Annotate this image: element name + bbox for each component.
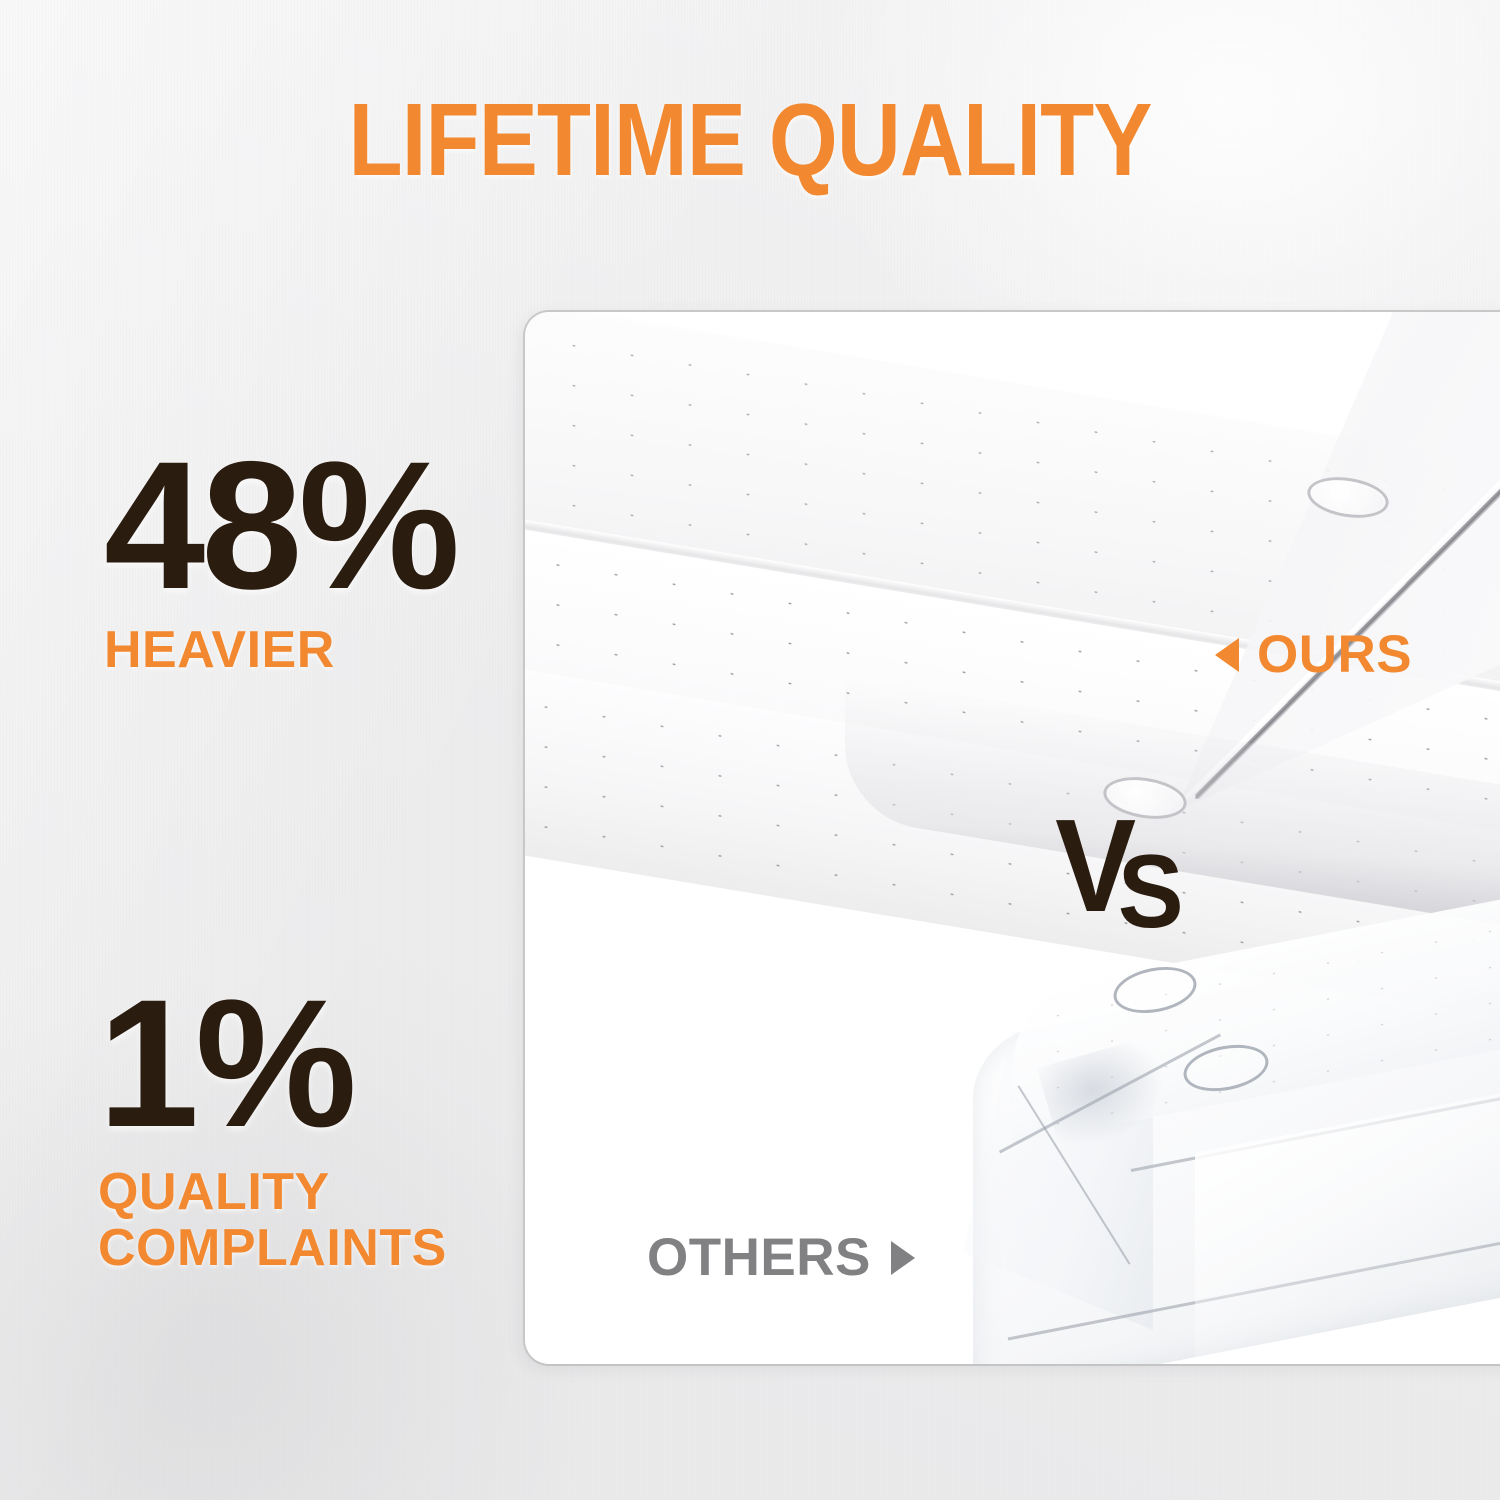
vs-badge: VS [1052,800,1199,932]
triangle-right-icon [891,1241,915,1275]
stat-complaints-label-line2: COMPLAINTS [98,1220,447,1276]
stat-heavier-number: 48% [104,447,456,604]
others-label: OTHERS [647,1227,915,1288]
stat-heavier-label: HEAVIER [104,622,456,678]
vs-letter-v: V [1055,800,1127,932]
ours-product-image [525,312,1500,922]
ours-label: OURS [1215,624,1412,685]
product-comparison-card: OURS VS [523,310,1500,1366]
ours-label-text: OURS [1257,624,1412,685]
page-title: LIFETIME QUALITY [105,88,1395,191]
vs-letter-s: S [1118,840,1184,944]
stat-quality-complaints: 1% QUALITY COMPLAINTS [98,985,447,1276]
stat-complaints-label-line1: QUALITY [98,1164,447,1220]
stat-complaints-label: QUALITY COMPLAINTS [98,1164,447,1276]
others-product-image [955,942,1500,1364]
infographic-root: LIFETIME QUALITY 48% HEAVIER 1% QUALITY … [0,0,1500,1500]
stat-heavier: 48% HEAVIER [104,447,456,678]
others-label-text: OTHERS [647,1227,871,1288]
stat-complaints-number: 1% [98,985,447,1142]
card-inner: OURS VS [525,312,1500,1364]
triangle-left-icon [1215,638,1239,672]
